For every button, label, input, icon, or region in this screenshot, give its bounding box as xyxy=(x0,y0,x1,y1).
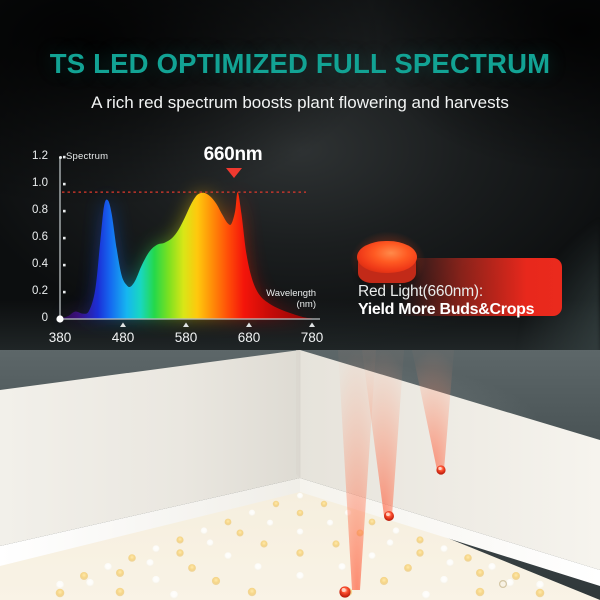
callout-line-1: Red Light(660nm): xyxy=(358,283,483,301)
x-tick-mark xyxy=(309,323,315,328)
y-tick-label: 1.0 xyxy=(8,177,48,189)
legend-marker xyxy=(59,156,62,159)
origin-marker xyxy=(56,315,63,322)
page-subtitle: A rich red spectrum boosts plant floweri… xyxy=(0,93,600,113)
x-axis-title-text: Wavelength xyxy=(266,288,316,299)
spectrum-chart-svg xyxy=(0,140,345,355)
x-tick-label: 480 xyxy=(101,330,145,345)
y-tick-label: 0.4 xyxy=(8,258,48,270)
x-tick-mark xyxy=(183,323,189,328)
y-tick-label: 0.2 xyxy=(8,285,48,297)
y-tick-dot xyxy=(63,210,66,213)
callout-line-2: Yield More Buds&Crops xyxy=(358,301,534,319)
x-tick-mark xyxy=(246,323,252,328)
y-tick-dot xyxy=(63,183,66,186)
y-tick-label: 0 xyxy=(8,312,48,324)
x-tick-mark xyxy=(120,323,126,328)
x-tick-label: 780 xyxy=(290,330,334,345)
led-grow-light-panel xyxy=(0,350,600,600)
x-tick-label: 680 xyxy=(227,330,271,345)
y-tick-dot xyxy=(63,264,66,267)
x-axis-title: Wavelength (nm) xyxy=(246,288,316,310)
x-axis-unit-text: (nm) xyxy=(296,299,316,310)
y-tick-dot xyxy=(63,291,66,294)
y-tick-marks xyxy=(63,156,66,294)
page-title: TS LED OPTIMIZED FULL SPECTRUM xyxy=(0,48,600,80)
y-tick-dot xyxy=(63,237,66,240)
peak-wavelength-label: 660nm xyxy=(168,144,298,166)
y-tick-label: 0.6 xyxy=(8,231,48,243)
product-infographic: TS LED OPTIMIZED FULL SPECTRUM A rich re… xyxy=(0,0,600,600)
x-tick-label: 580 xyxy=(164,330,208,345)
spectrum-chart: 00.20.40.60.81.01.2 380480580680780 xyxy=(0,140,345,355)
y-tick-label: 0.8 xyxy=(8,204,48,216)
down-triangle-icon xyxy=(226,168,242,178)
y-tick-label: 1.2 xyxy=(8,150,48,162)
legend-label: Spectrum xyxy=(66,151,108,162)
chip-top xyxy=(357,241,417,273)
x-tick-label: 380 xyxy=(38,330,82,345)
x-tick-marks xyxy=(120,323,315,328)
